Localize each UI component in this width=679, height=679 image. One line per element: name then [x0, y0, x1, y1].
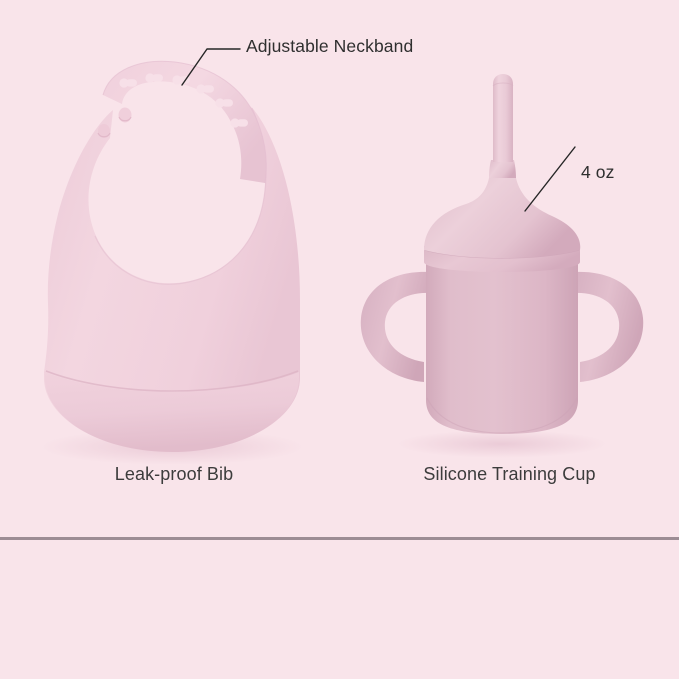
caption-leak-proof-bib: Leak-proof Bib: [0, 464, 348, 485]
neckband-hole[interactable]: [196, 84, 214, 93]
headline-panel: Safe, Soft and Easy to Clean: [0, 540, 679, 679]
cup-handle-left: [361, 272, 430, 382]
callout-label-adjustable-neckband: Adjustable Neckband: [246, 36, 413, 57]
product-infographic: Adjustable Neckband 4 oz Leak-proof Bib …: [0, 0, 679, 679]
neckband-hole[interactable]: [145, 73, 163, 82]
caption-silicone-training-cup: Silicone Training Cup: [340, 464, 679, 485]
cup-lid-dome: [424, 178, 580, 258]
product-bib: [40, 49, 304, 465]
cup-straw[interactable]: [493, 74, 513, 162]
products-panel: Adjustable Neckband 4 oz Leak-proof Bib …: [0, 0, 679, 538]
cup-shadow: [397, 430, 607, 458]
cup-spout-neck: [489, 160, 516, 178]
cup-body: [426, 258, 578, 434]
neckband-hole[interactable]: [215, 98, 233, 107]
callout-label-capacity: 4 oz: [581, 162, 614, 183]
neckband-hole[interactable]: [230, 118, 248, 127]
cup-handle-right: [574, 272, 643, 382]
product-illustrations: [0, 0, 679, 538]
callout-leader-oz: [525, 147, 575, 211]
product-cup: [361, 74, 643, 458]
neckband-hole[interactable]: [119, 78, 137, 87]
